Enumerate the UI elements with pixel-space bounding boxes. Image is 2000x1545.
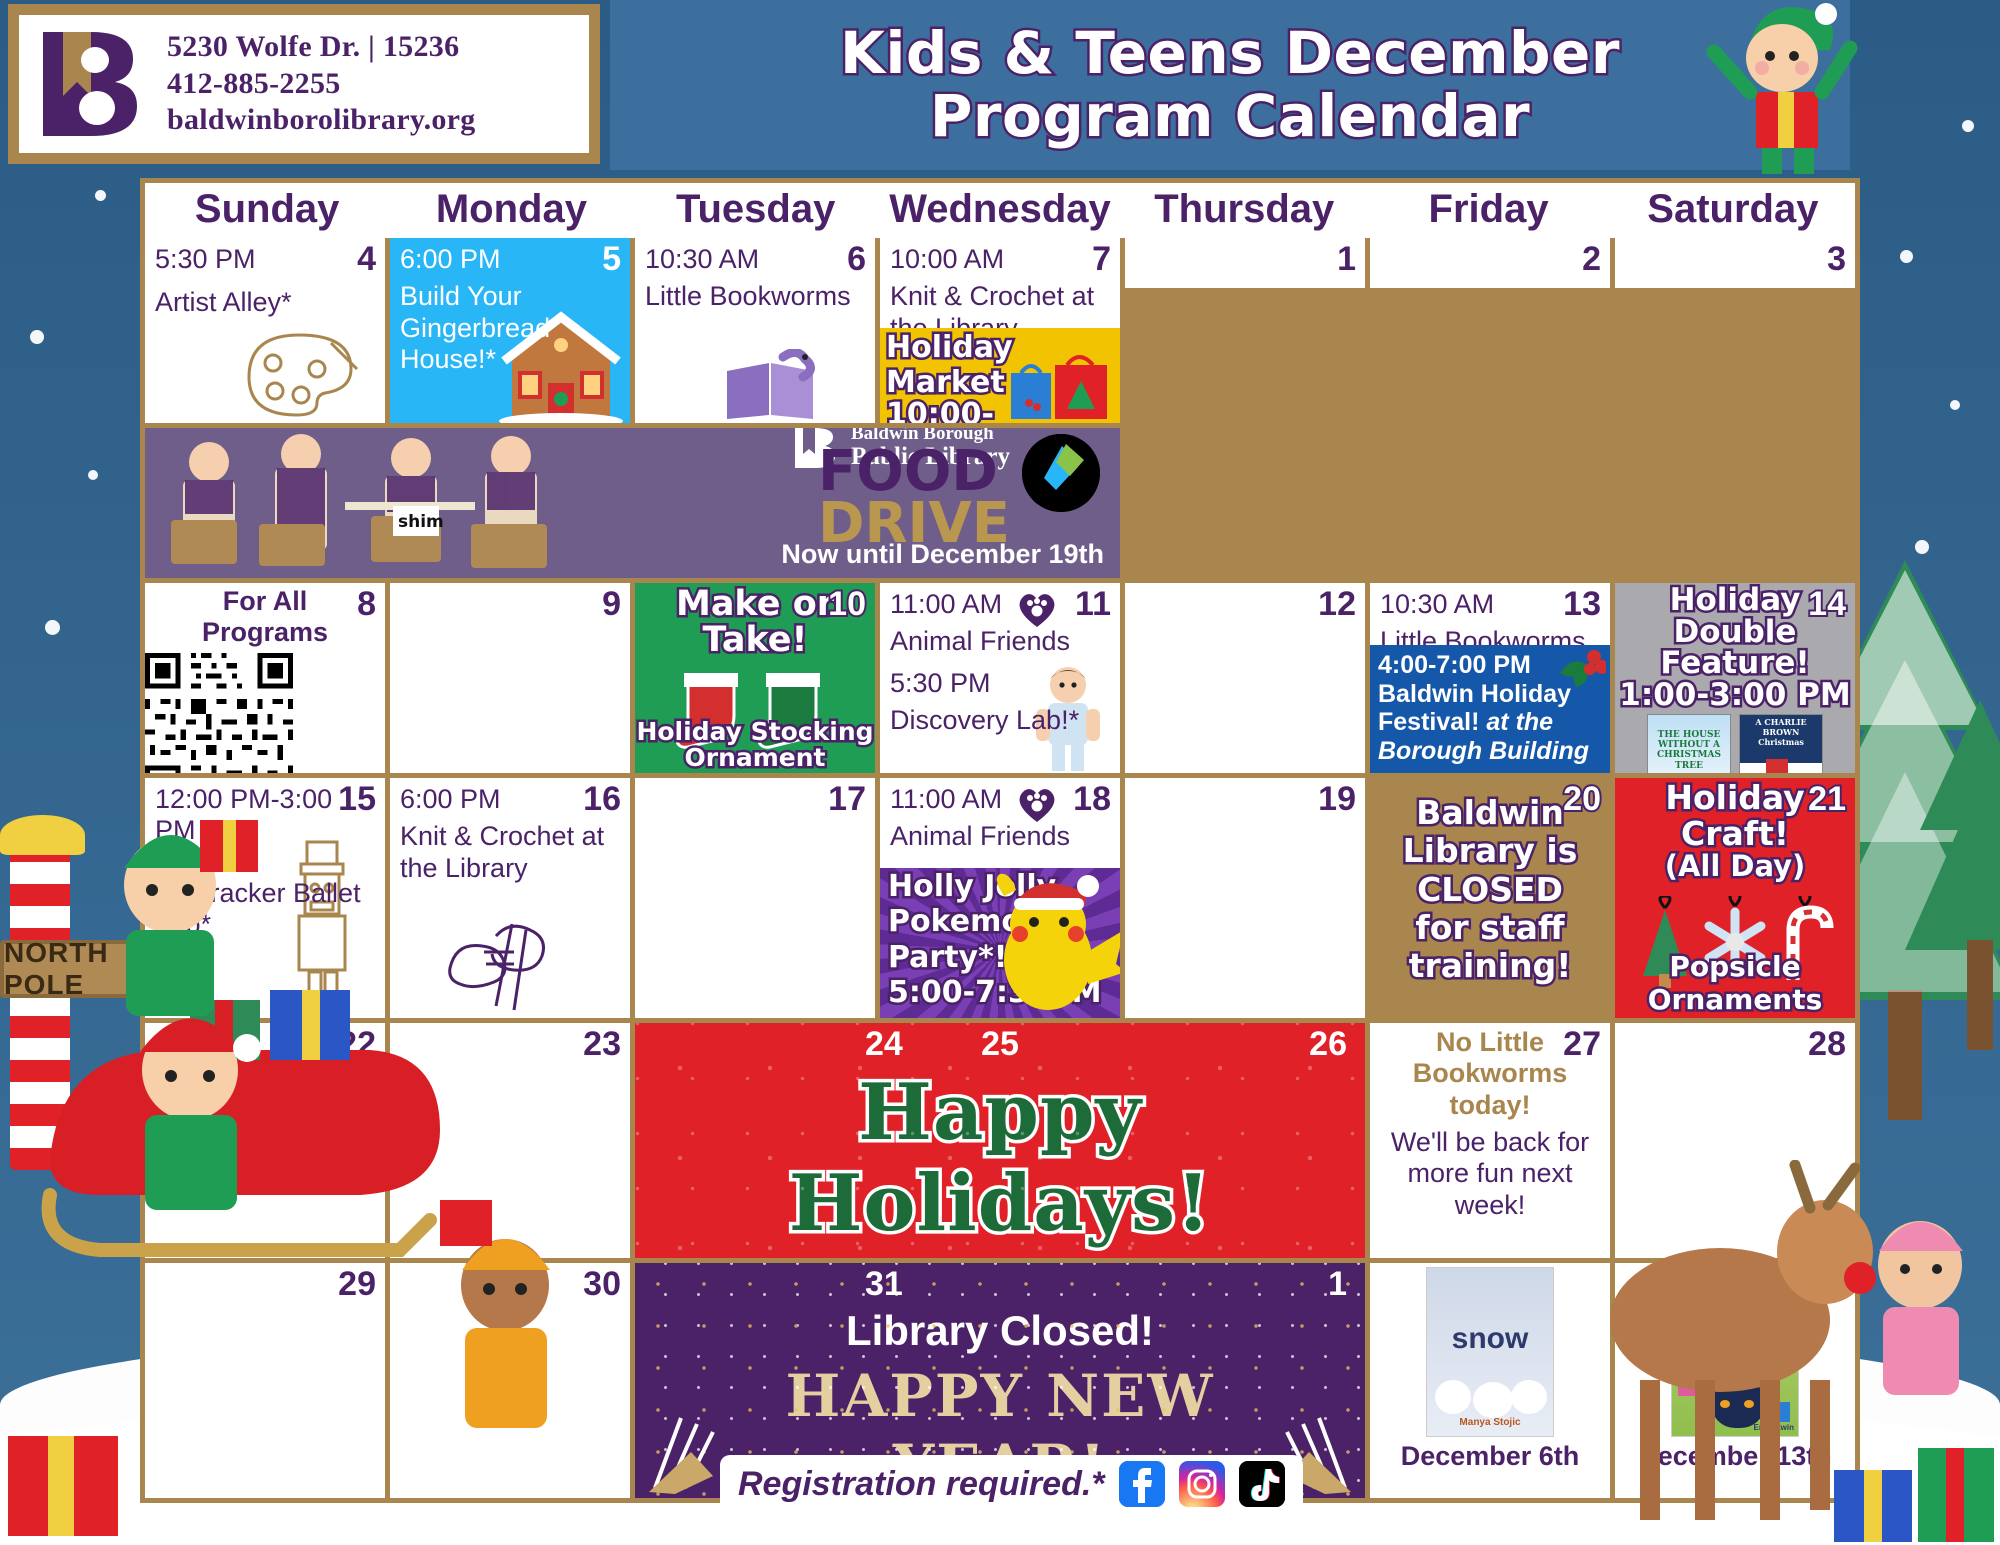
elf-waving-icon (1690, 0, 1860, 175)
day-cell-8[interactable]: 8 For All Programs (145, 583, 385, 773)
book-title: snow (1427, 1322, 1553, 1356)
closed-line4: for staff (1370, 909, 1610, 947)
weekday-saturday: Saturday (1611, 183, 1855, 238)
day-number: 20 (1563, 780, 1601, 819)
day-number: 1 (1337, 240, 1356, 279)
day-number: 17 (828, 780, 866, 819)
day-number: 9 (602, 585, 621, 624)
library-website[interactable]: baldwinborolibrary.org (167, 102, 476, 139)
weekday-friday: Friday (1366, 183, 1610, 238)
food-drive-row: shim Baldwin Borough Public Library FOOD… (145, 428, 1855, 578)
craft-line3: (All Day) (1615, 851, 1855, 883)
paint-palette-icon (239, 329, 359, 421)
facebook-icon[interactable] (1119, 1461, 1165, 1507)
shopping-bags-icon (1009, 345, 1114, 421)
event-title: Animal Friends (880, 815, 1120, 852)
gift-box-left-icon (0, 1400, 140, 1545)
day-cell-7[interactable]: 7 10:00 AM Knit & Crochet at the Library… (880, 238, 1120, 423)
craft-line2: Craft! (1615, 816, 1855, 852)
event-time: 6:00 PM (390, 238, 630, 275)
weekday-header-row: Sunday Monday Tuesday Wednesday Thursday… (145, 183, 1855, 238)
pikachu-santa-icon (976, 868, 1120, 1018)
day-cell-10[interactable]: 10 Make or Take! Holiday Stocking Orname… (635, 583, 875, 773)
day-cell-9[interactable]: 9 (390, 583, 630, 773)
library-address: 5230 Wolfe Dr. | 15236 (167, 29, 476, 66)
craft-caption: Popsicle Ornaments (1615, 950, 1855, 1016)
week-row-1: 1 2 3 4 5:30 PM Artist Alley* 5 6:00 PM … (145, 238, 1855, 423)
food-drive-banner[interactable]: shim Baldwin Borough Public Library FOOD… (145, 428, 1120, 578)
holiday-market-banner[interactable]: Holiday Market 10:00-2:00PM (880, 328, 1120, 423)
library-contact-info: 5230 Wolfe Dr. | 15236 412-885-2255 bald… (167, 29, 476, 139)
ribbon-badge-icon (1022, 434, 1100, 512)
day-number: 18 (1073, 780, 1111, 819)
closed-line3: CLOSED (1370, 871, 1610, 909)
day-cell-19[interactable]: 19 (1125, 778, 1365, 1018)
elf-holding-gift-icon (60, 790, 280, 1020)
registration-note: Registration required.* (738, 1465, 1105, 1504)
food-drive-people-icon: shim (155, 428, 855, 578)
day-number: 11 (1075, 585, 1111, 624)
weekday-sunday: Sunday (145, 183, 389, 238)
day-cell-21[interactable]: 21 Holiday Craft! (All Day) Popsicle Orn… (1615, 778, 1855, 1018)
event-time-2: 5:30 PM (880, 658, 1120, 699)
qr-label-line2: Programs (145, 617, 385, 648)
day-number: 7 (1092, 240, 1111, 279)
day-cell-3[interactable]: 3 (1615, 238, 1855, 288)
happy-holidays-banner[interactable]: 24 25 26 Happy Holidays! BBPL is CLOSED … (635, 1023, 1365, 1258)
week-row-2: 8 For All Programs (145, 583, 1855, 773)
day-cell-1[interactable]: 1 (1125, 238, 1365, 288)
holly-berries-icon (1554, 647, 1606, 693)
event-title: Little Bookworms (635, 275, 875, 312)
day-cell-12[interactable]: 12 (1125, 583, 1365, 773)
svg-text:shim: shim (398, 512, 444, 532)
event-time: 10:30 AM (635, 238, 875, 275)
weekday-monday: Monday (389, 183, 633, 238)
day-cell-6[interactable]: 6 10:30 AM Little Bookworms (635, 238, 875, 423)
qr-code-icon[interactable] (145, 653, 293, 773)
event-time: 5:30 PM (145, 238, 385, 275)
knitting-hands-icon (438, 906, 588, 1016)
double-feature-time: 1:00-3:00 PM (1615, 680, 1855, 712)
bookworm-icon (717, 349, 827, 421)
elf-yellow-icon (410, 1190, 600, 1450)
day-number: 2 (1582, 240, 1601, 279)
baldwin-holiday-festival-banner[interactable]: 4:00-7:00 PM Baldwin Holiday Festival! a… (1370, 645, 1610, 773)
library-phone: 412-885-2255 (167, 66, 476, 103)
day-number-25: 25 (981, 1025, 1019, 1064)
day-number: 8 (357, 585, 376, 624)
day-number-31: 31 (865, 1265, 903, 1304)
event-title: Knit & Crochet at the Library (390, 815, 630, 884)
food-drive-title: FOOD DRIVE (818, 446, 1010, 549)
double-feature-title3: Feature! (1615, 648, 1855, 680)
food-drive-word1: FOOD (818, 446, 1010, 498)
day-cell-20[interactable]: 20 Baldwin Library is CLOSED for staff t… (1370, 778, 1610, 1018)
weekday-tuesday: Tuesday (634, 183, 878, 238)
make-or-take-caption: Holiday Stocking Ornament (635, 719, 875, 772)
day-number: 3 (1827, 240, 1846, 279)
event-title-1: Animal Friends (880, 620, 1120, 657)
movie-poster-2: A CHARLIE BROWN Christmas (1739, 714, 1823, 773)
weekday-wednesday: Wednesday (878, 183, 1122, 238)
page-title-line2: Program Calendar (930, 85, 1530, 148)
footer-bar: Registration required.* (720, 1455, 1303, 1513)
day-number-26: 26 (1309, 1025, 1347, 1064)
food-drive-subtitle: Now until December 19th (781, 539, 1104, 570)
library-logo-box: 5230 Wolfe Dr. | 15236 412-885-2255 bald… (8, 4, 600, 164)
book-author: Manya Stojic (1427, 1417, 1553, 1428)
day-cell-4[interactable]: 4 5:30 PM Artist Alley* (145, 238, 385, 423)
day-number: 23 (583, 1025, 621, 1064)
day-number: 10 (828, 585, 866, 624)
day-number-1: 1 (1328, 1265, 1347, 1304)
day-number: 19 (1318, 780, 1356, 819)
tiktok-icon[interactable] (1239, 1461, 1285, 1507)
calendar-title-band: Kids & Teens December Program Calendar (610, 0, 1850, 170)
day-number: 15 (338, 780, 376, 819)
day-cell-18[interactable]: 18 11:00 AM Animal Friends Holly Jolly P… (880, 778, 1120, 1018)
day-number: 4 (357, 240, 376, 279)
day-number: 14 (1808, 585, 1846, 624)
event-title-2: Discovery Lab!* (880, 699, 1120, 736)
day-cell-29[interactable]: 29 (145, 1263, 385, 1498)
closed-line5: training! (1370, 947, 1610, 985)
day-number: 13 (1563, 585, 1601, 624)
movie-poster-1: THE HOUSE WITHOUT A CHRISTMAS TREE (1647, 714, 1731, 773)
event-title: Build Your Gingerbread House!* (390, 275, 630, 375)
pine-tree-small-icon (1905, 700, 2000, 1170)
day-number: 6 (847, 240, 866, 279)
day-cell-2[interactable]: 2 (1370, 238, 1610, 288)
elf-with-sleigh-icon (75, 990, 305, 1250)
instagram-icon[interactable] (1179, 1461, 1225, 1507)
day-number: 16 (583, 780, 621, 819)
pokemon-party-banner[interactable]: Holly Jolly Pokemon Party*! 5:00-7:30PM (880, 868, 1120, 1018)
qr-label-line1: For All (145, 583, 385, 617)
make-or-take-title2: Take! (635, 623, 875, 659)
weekday-thursday: Thursday (1122, 183, 1366, 238)
day-number: 5 (602, 240, 621, 279)
day-number-24: 24 (865, 1025, 903, 1064)
page-header: 5230 Wolfe Dr. | 15236 412-885-2255 bald… (0, 0, 2000, 178)
girl-winter-icon (1835, 1185, 2000, 1395)
closed-line2: Library is (1370, 832, 1610, 870)
day-cell-13[interactable]: 13 10:30 AM Little Bookworms 4:00-7:00 P… (1370, 583, 1610, 773)
day-number: 12 (1318, 585, 1356, 624)
day-cell-11[interactable]: 11 11:00 AM Animal Friends 5:30 PM Disco… (880, 583, 1120, 773)
page-title-line1: Kids & Teens December (840, 22, 1620, 85)
library-logo-icon (33, 24, 153, 144)
day-cell-17[interactable]: 17 (635, 778, 875, 1018)
day-cell-5[interactable]: 5 6:00 PM Build Your Gingerbread House!* (390, 238, 630, 423)
movie-title-1: THE HOUSE WITHOUT A CHRISTMAS TREE (1648, 715, 1730, 773)
day-number: 21 (1808, 780, 1846, 819)
day-cell-14[interactable]: 14 Holiday Double Feature! 1:00-3:00 PM … (1615, 583, 1855, 773)
event-title: Artist Alley* (145, 275, 385, 318)
day-number: 27 (1563, 1025, 1601, 1064)
event-time: 10:00 AM (880, 238, 1120, 275)
gift-boxes-icon (1830, 1420, 2000, 1545)
book-date-caption: December 6th (1401, 1441, 1580, 1472)
book-cover-snow: snow Manya Stojic (1426, 1267, 1554, 1437)
day-number: 28 (1808, 1025, 1846, 1064)
